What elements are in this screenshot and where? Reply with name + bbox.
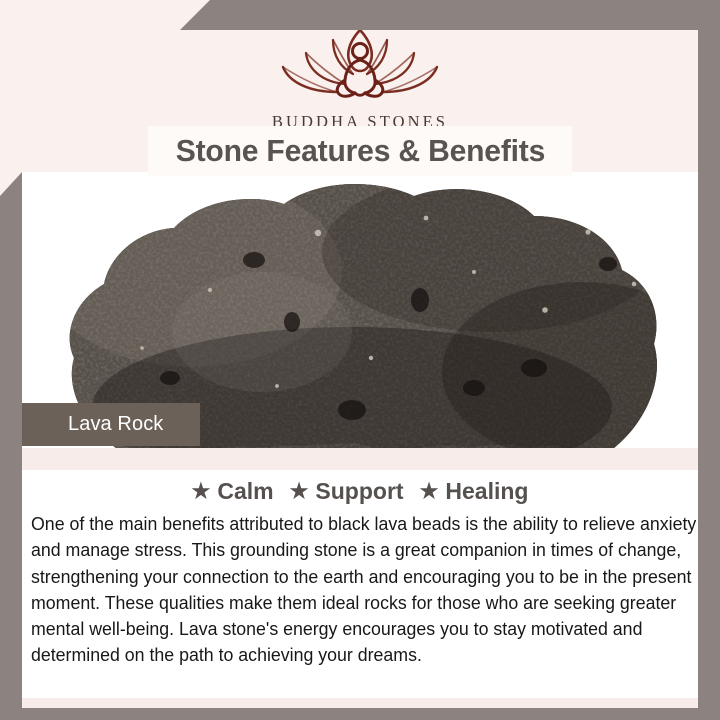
brand-logo-block: BUDDHA STONES (0, 24, 720, 132)
benefit-item: ★ Healing (420, 478, 529, 505)
frame-bottom-accent (0, 708, 720, 720)
page-title: Stone Features & Benefits (175, 133, 544, 169)
section-banner: Stone Features & Benefits (148, 126, 572, 176)
benefit-label: Support (315, 478, 403, 505)
description-paragraph: One of the main benefits attributed to b… (31, 511, 701, 669)
benefit-item: ★ Support (290, 478, 404, 505)
photo-caption-chip: Lava Rock (22, 403, 200, 446)
benefit-label: Calm (217, 478, 273, 505)
star-icon: ★ (290, 481, 309, 502)
star-icon: ★ (420, 481, 439, 502)
body-panel: ★ Calm ★ Support ★ Healing One of the ma… (22, 470, 698, 698)
frame-right-accent (698, 0, 720, 720)
benefit-item: ★ Calm (192, 478, 274, 505)
divider-strip (22, 448, 698, 470)
star-icon: ★ (192, 481, 211, 502)
photo-caption-label: Lava Rock (22, 413, 163, 436)
benefits-row: ★ Calm ★ Support ★ Healing (22, 470, 698, 505)
benefit-label: Healing (445, 478, 528, 505)
bottom-strip (22, 698, 698, 708)
stone-features-card: BUDDHA STONES (0, 0, 720, 720)
frame-left-accent (0, 172, 22, 720)
lotus-meditation-icon (275, 24, 445, 108)
